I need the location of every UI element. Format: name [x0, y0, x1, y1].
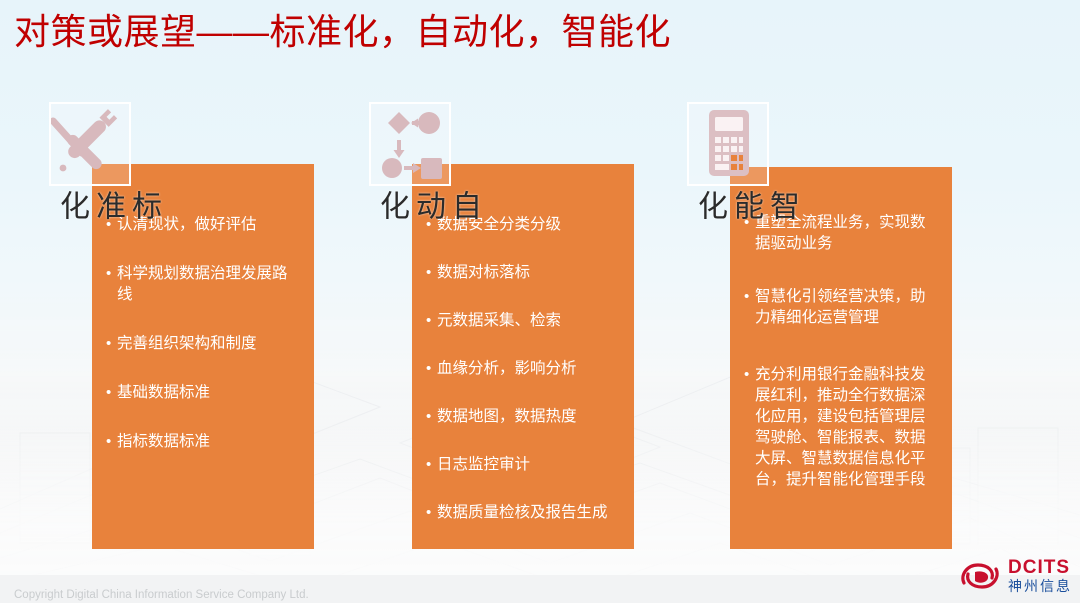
calculator-icon-frame — [687, 102, 769, 186]
dcits-swoosh-icon — [958, 559, 1002, 593]
copyright-text: Copyright Digital China Information Serv… — [14, 588, 309, 602]
tools-icon-frame — [49, 102, 131, 186]
logo-en-text: DCITS — [1008, 558, 1072, 577]
page-title: 对策或展望——标准化，自动化，智能化 — [14, 9, 671, 55]
column-label-automation: 自动化 — [373, 190, 481, 224]
list-item: 基础数据标准 — [106, 382, 300, 403]
column-label-intelligence: 智能化 — [691, 190, 799, 224]
company-logo: DCITS 神州信息 — [958, 558, 1072, 593]
bullet-list-standardization: 认清现状，做好评估 科学规划数据治理发展路线 完善组织架构和制度 基础数据标准 … — [106, 214, 300, 452]
title-divider — [0, 68, 1080, 69]
logo-cn-text: 神州信息 — [1008, 579, 1072, 593]
list-item: 数据对标落标 — [426, 262, 620, 283]
list-item: 日志监控审计 — [426, 454, 620, 475]
list-item: 数据质量检核及报告生成 — [426, 502, 620, 523]
calculator-icon — [689, 104, 767, 184]
list-item: 科学规划数据治理发展路线 — [106, 263, 300, 305]
list-item: 充分利用银行金融科技发展红利，推动全行数据深化应用，建设包括管理层驾驶舱、智能报… — [744, 364, 938, 490]
list-item: 数据地图，数据热度 — [426, 406, 620, 427]
bullet-list-automation: 数据安全分类分级 数据对标落标 元数据采集、检索 血缘分析，影响分析 数据地图，… — [426, 214, 620, 523]
bullet-list-intelligence: 重塑全流程业务，实现数据驱动业务 智慧化引领经营决策，助力精细化运营管理 充分利… — [744, 212, 938, 490]
content-box-intelligence: 重塑全流程业务，实现数据驱动业务 智慧化引领经营决策，助力精细化运营管理 充分利… — [730, 167, 952, 549]
slide-canvas: 对策或展望——标准化，自动化，智能化 — [0, 0, 1080, 603]
workflow-icon — [371, 104, 449, 184]
tools-icon — [51, 104, 129, 184]
list-item: 完善组织架构和制度 — [106, 333, 300, 354]
list-item: 指标数据标准 — [106, 431, 300, 452]
list-item: 血缘分析，影响分析 — [426, 358, 620, 379]
column-label-standardization: 标准化 — [53, 190, 161, 224]
workflow-icon-frame — [369, 102, 451, 186]
list-item: 智慧化引领经营决策，助力精细化运营管理 — [744, 286, 938, 328]
list-item: 元数据采集、检索 — [426, 310, 620, 331]
